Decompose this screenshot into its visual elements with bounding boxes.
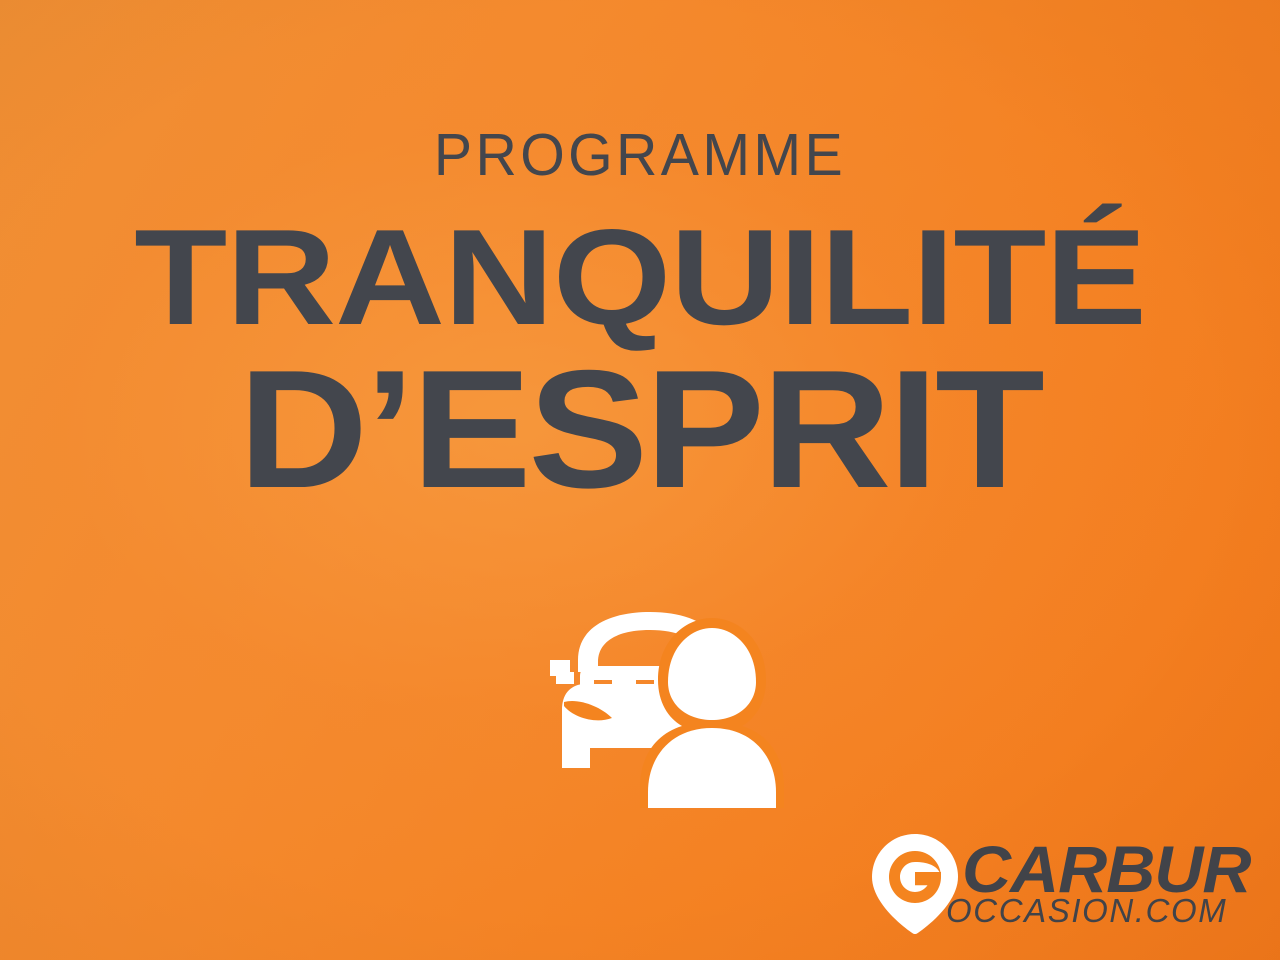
banner-content: PROGRAMME TRANQUILITÉ D’ESPRIT <box>0 0 1280 960</box>
car-and-person-icon <box>516 602 784 808</box>
headline-line-2: D’ESPRIT <box>0 356 1280 504</box>
brand-subtitle: OCCASION.COM <box>946 894 1227 927</box>
kicker-text: PROGRAMME <box>19 126 1261 185</box>
promo-banner: PROGRAMME TRANQUILITÉ D’ESPRIT <box>0 0 1280 960</box>
brand-logo[interactable]: CARBUR OCCASION.COM <box>866 832 1238 938</box>
headline-line-1: TRANQUILITÉ <box>0 218 1280 338</box>
